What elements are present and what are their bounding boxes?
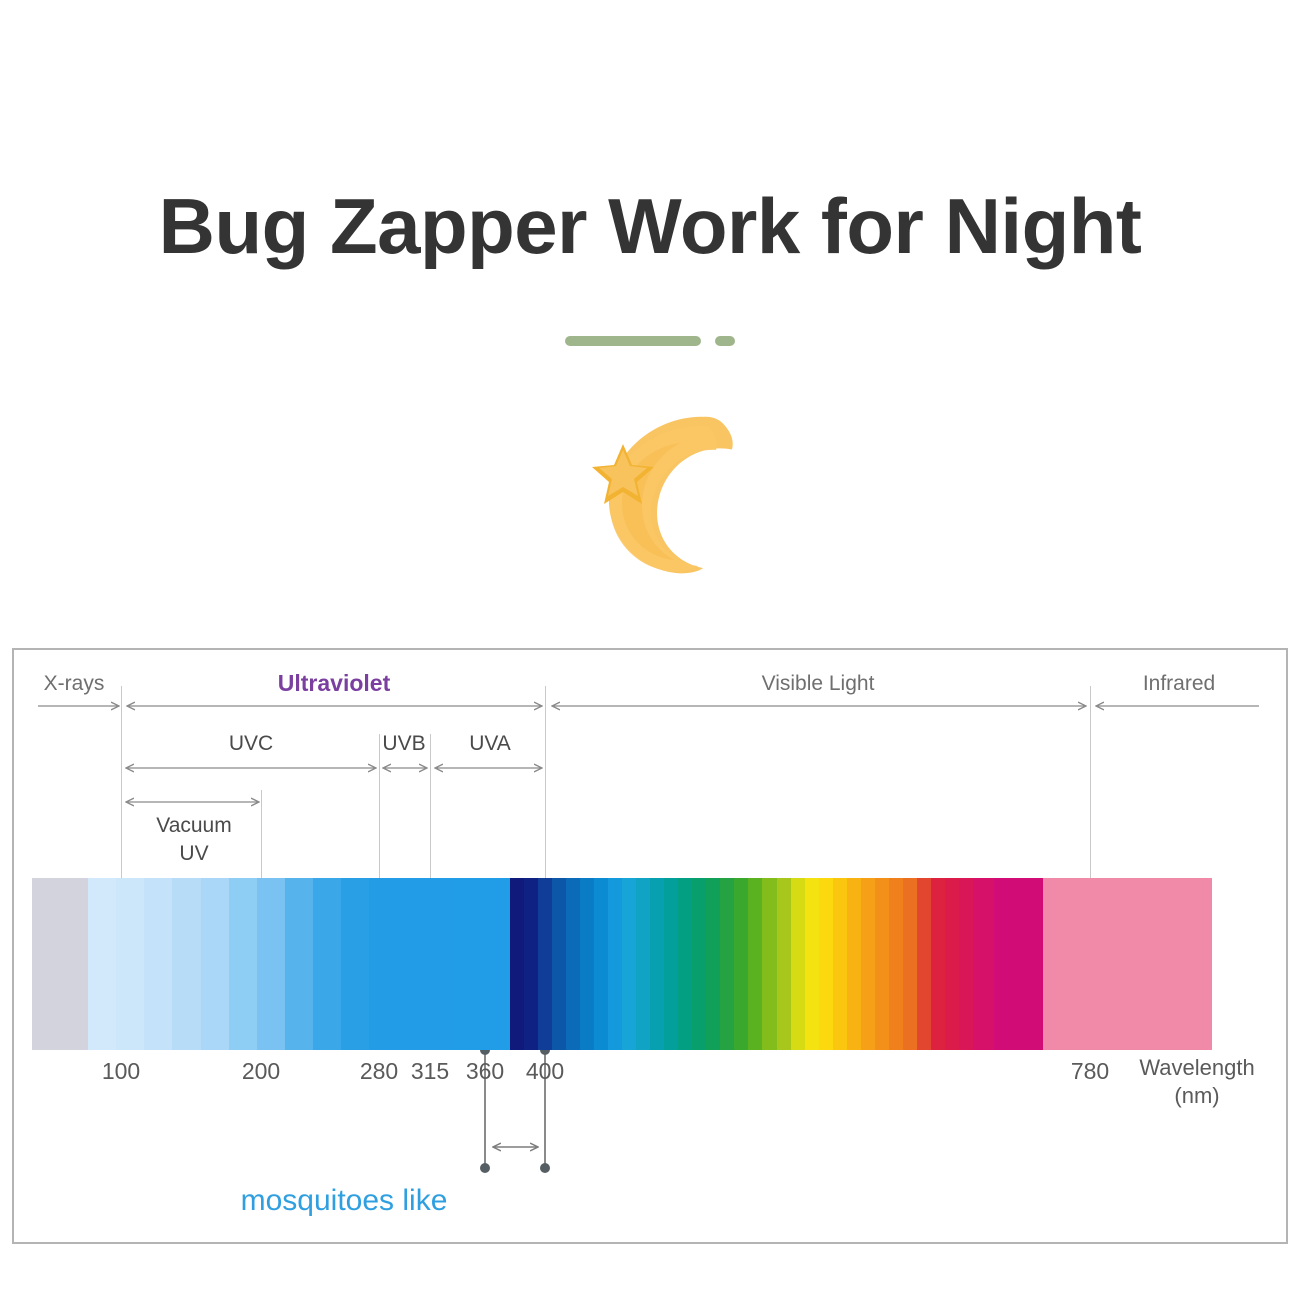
crescent-moon-with-star-icon bbox=[560, 398, 740, 578]
spectrum-segment bbox=[650, 878, 664, 1050]
subregion-label-uva: UVA bbox=[438, 732, 542, 756]
divider-dot bbox=[715, 336, 735, 346]
moon-illustration bbox=[0, 398, 1300, 588]
spectrum-segment bbox=[390, 878, 425, 1050]
spectrum-segment bbox=[313, 878, 341, 1050]
spectrum-segment bbox=[805, 878, 819, 1050]
spectrum-segment bbox=[748, 878, 762, 1050]
spectrum-segment bbox=[903, 878, 917, 1050]
spectrum-segment bbox=[257, 878, 285, 1050]
axis-label-wavelength-line1: Wavelength bbox=[1122, 1054, 1272, 1082]
spectrum-strip bbox=[32, 878, 1212, 1050]
region-label-infrared: Infrared bbox=[1094, 672, 1264, 696]
spectrum-segment bbox=[172, 878, 200, 1050]
spectrum-segment bbox=[566, 878, 580, 1050]
spectrum-segment bbox=[341, 878, 369, 1050]
spectrum-segment bbox=[594, 878, 608, 1050]
spectrum-segment bbox=[762, 878, 776, 1050]
subregion-label-uvc: UVC bbox=[126, 732, 376, 756]
spectrum-segment bbox=[777, 878, 791, 1050]
region-label-ultraviolet: Ultraviolet bbox=[124, 670, 544, 697]
spectrum-segment bbox=[678, 878, 692, 1050]
tick-label-280: 280 bbox=[360, 1058, 398, 1085]
spectrum-segment bbox=[88, 878, 116, 1050]
spectrum-segment bbox=[664, 878, 678, 1050]
axis-label-wavelength: Wavelength (nm) bbox=[1122, 1054, 1272, 1109]
spectrum-segment bbox=[931, 878, 945, 1050]
subregion-label-uvb: UVB bbox=[376, 732, 432, 756]
spectrum-segment bbox=[720, 878, 734, 1050]
spectrum-segment bbox=[580, 878, 594, 1050]
page-root: Bug Zapper Work for Night X-rays Ultravi… bbox=[0, 0, 1300, 1300]
header: Bug Zapper Work for Night bbox=[0, 186, 1300, 268]
spectrum-segment bbox=[994, 878, 1043, 1050]
spectrum-segment bbox=[692, 878, 706, 1050]
spectrum-segment bbox=[622, 878, 636, 1050]
tick-label-780: 780 bbox=[1071, 1058, 1109, 1085]
spectrum-segment bbox=[889, 878, 903, 1050]
subregion-label-vacuum-uv-line2: UV bbox=[126, 842, 262, 866]
spectrum-segment bbox=[144, 878, 172, 1050]
spectrum-segment bbox=[425, 878, 453, 1050]
spectrum-segment bbox=[229, 878, 257, 1050]
spectrum-segment bbox=[959, 878, 973, 1050]
spectrum-segment bbox=[847, 878, 861, 1050]
tick-label-200: 200 bbox=[242, 1058, 280, 1085]
tick-label-400: 400 bbox=[526, 1058, 564, 1085]
subregion-label-vacuum-uv-line1: Vacuum bbox=[126, 814, 262, 838]
spectrum-segment bbox=[945, 878, 959, 1050]
spectrum-segment bbox=[369, 878, 390, 1050]
region-label-xrays: X-rays bbox=[28, 672, 120, 696]
spectrum-segment bbox=[917, 878, 931, 1050]
tick-label-100: 100 bbox=[102, 1058, 140, 1085]
divider-dash bbox=[565, 336, 701, 346]
spectrum-segment bbox=[833, 878, 847, 1050]
spectrum-segment bbox=[538, 878, 552, 1050]
chart-inner: X-rays Ultraviolet Visible Light Infrare… bbox=[14, 650, 1286, 1242]
spectrum-segment bbox=[734, 878, 748, 1050]
spectrum-segment bbox=[636, 878, 650, 1050]
spectrum-segment bbox=[875, 878, 889, 1050]
tick-label-360: 360 bbox=[466, 1058, 504, 1085]
axis-label-wavelength-line2: (nm) bbox=[1122, 1082, 1272, 1110]
region-label-visible-light: Visible Light bbox=[548, 672, 1088, 696]
spectrum-segment bbox=[524, 878, 538, 1050]
title-divider bbox=[0, 336, 1300, 346]
spectrum-chart: X-rays Ultraviolet Visible Light Infrare… bbox=[12, 648, 1288, 1244]
spectrum-segment bbox=[116, 878, 144, 1050]
page-title: Bug Zapper Work for Night bbox=[0, 186, 1300, 268]
annotation-mosquitoes-like: mosquitoes like bbox=[14, 1184, 674, 1218]
spectrum-segment bbox=[706, 878, 720, 1050]
spectrum-segment bbox=[285, 878, 313, 1050]
spectrum-segment bbox=[201, 878, 229, 1050]
spectrum-segment bbox=[973, 878, 994, 1050]
spectrum-segment bbox=[510, 878, 524, 1050]
tick-label-315: 315 bbox=[411, 1058, 449, 1085]
spectrum-segment bbox=[32, 878, 88, 1050]
spectrum-segment bbox=[552, 878, 566, 1050]
spectrum-segment bbox=[791, 878, 805, 1050]
spectrum-segment bbox=[453, 878, 509, 1050]
spectrum-segment bbox=[861, 878, 875, 1050]
spectrum-segment bbox=[1043, 878, 1212, 1050]
spectrum-segment bbox=[608, 878, 622, 1050]
spectrum-segment bbox=[819, 878, 833, 1050]
